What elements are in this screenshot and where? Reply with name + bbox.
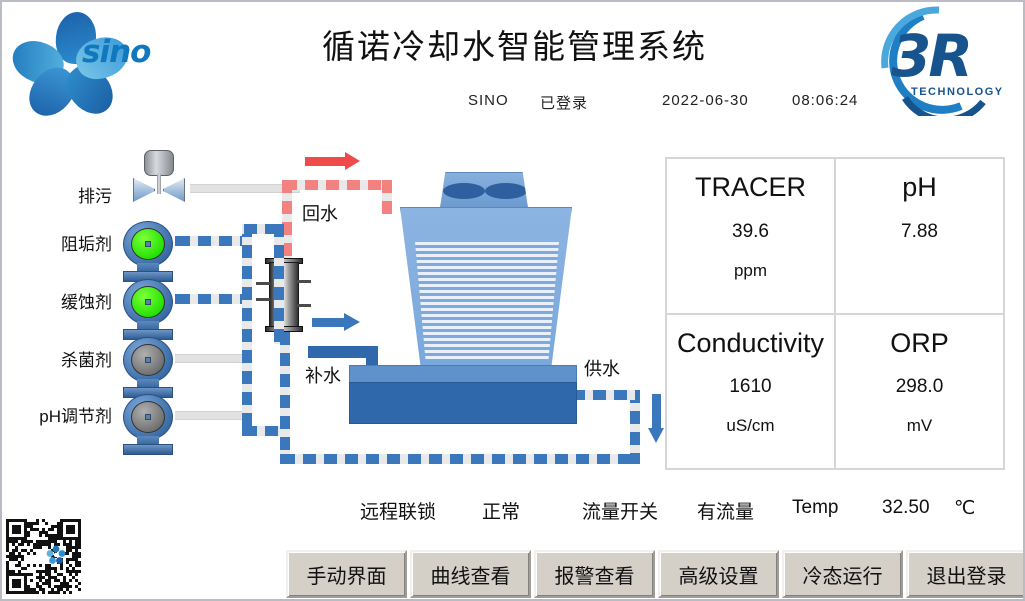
remote-interlock-label: 远程联锁 xyxy=(360,497,436,524)
readout-value: 298.0 xyxy=(896,376,944,398)
valve-actuator xyxy=(144,150,174,176)
pump-center-dot xyxy=(145,241,151,247)
vessel-nozzle-left-upper xyxy=(256,282,270,285)
blowdown-valve-icon[interactable] xyxy=(124,150,194,204)
pump-corrosion-inhibitor[interactable] xyxy=(121,279,175,341)
remote-interlock-value: 正常 xyxy=(482,497,520,524)
status-bar: 远程联锁 正常 流量开关 有流量 Temp 32.50 ℃ xyxy=(2,497,1025,527)
equipment-label-ph-adjuster: pH调节剂 xyxy=(16,402,112,427)
temp-value: 32.50 xyxy=(882,497,930,519)
cooling-tower-fan-housing xyxy=(440,172,528,208)
cold-start-run-button[interactable]: 冷态运行 xyxy=(782,550,903,598)
readout-name: Conductivity xyxy=(677,329,824,359)
advanced-settings-button[interactable]: 高级设置 xyxy=(658,550,779,598)
readout-name: TRACER xyxy=(695,173,806,203)
valve-wing-right xyxy=(163,178,185,202)
vessel-nozzle-left-lower xyxy=(256,298,270,301)
readout-unit: uS/cm xyxy=(726,416,774,436)
pump-biocide[interactable] xyxy=(121,337,175,399)
equipment-label-corrosion-inhibitor: 缓蚀剂 xyxy=(22,288,112,313)
alarm-view-button[interactable]: 报警查看 xyxy=(534,550,655,598)
dosing-line-corrosion-inhibitor xyxy=(175,294,247,304)
supply-flow-arrow-head xyxy=(648,428,664,443)
current-user: SINO xyxy=(468,92,509,109)
makeup-water-label: 补水 xyxy=(305,362,341,388)
supply-flow-arrow-shaft xyxy=(652,394,661,430)
pump-center-dot xyxy=(145,414,151,420)
dosing-line-scale-inhibitor xyxy=(175,236,247,246)
logout-button[interactable]: 退出登录 xyxy=(906,550,1025,598)
pump-scale-inhibitor[interactable] xyxy=(121,221,175,283)
side-stream-filter-icon[interactable] xyxy=(264,254,304,336)
system-time: 08:06:24 xyxy=(792,92,858,109)
pump-center-dot xyxy=(145,357,151,363)
pump-base xyxy=(123,444,173,455)
dosing-line-ph-adjuster xyxy=(175,411,247,420)
flow-switch-label: 流量开关 xyxy=(582,497,658,524)
cooling-tower-basin xyxy=(349,382,577,424)
return-flow-arrow-head xyxy=(345,152,360,170)
cooling-tower-fill xyxy=(412,242,562,360)
curve-view-button[interactable]: 曲线查看 xyxy=(410,550,531,598)
command-button-bar: 手动界面 曲线查看 报警查看 高级设置 冷态运行 退出登录 xyxy=(286,550,1025,598)
fan-blade-right xyxy=(485,183,527,199)
readout-value: 7.88 xyxy=(901,221,938,243)
circulation-pipe-left xyxy=(242,224,252,434)
return-water-label: 回水 xyxy=(302,200,338,226)
system-date: 2022-06-30 xyxy=(662,92,749,109)
temp-unit: ℃ xyxy=(954,497,975,520)
circulation-pipe-riser xyxy=(280,332,290,464)
readout-value: 1610 xyxy=(729,376,771,398)
hmi-screen: sino 3R TECHNOLOGY 循诺冷却水智能管理系统 SINO 已登录 … xyxy=(0,0,1025,601)
qr-center-logo-icon xyxy=(46,545,66,565)
pump-center-dot xyxy=(145,299,151,305)
return-water-pipe-top xyxy=(282,180,392,190)
temp-label: Temp xyxy=(792,497,838,519)
equipment-label-scale-inhibitor: 阻垢剂 xyxy=(22,230,112,255)
measurements-panel: TRACER 39.6 ppm pH 7.88 Conductivity 161… xyxy=(665,157,1005,470)
readout-name: ORP xyxy=(890,329,949,359)
valve-stem xyxy=(157,174,161,194)
readout-value: 39.6 xyxy=(732,221,769,243)
login-status: 已登录 xyxy=(540,92,588,113)
circulation-pipe-vessel-feed xyxy=(274,224,284,344)
readout-unit: ppm xyxy=(734,261,767,281)
makeup-flow-arrow-head xyxy=(344,313,360,331)
return-water-pipe-down xyxy=(382,180,392,214)
equipment-label-blowdown: 排污 xyxy=(32,182,112,207)
page-title: 循诺冷却水智能管理系统 xyxy=(2,20,1025,68)
header-meta: SINO 已登录 2022-06-30 08:06:24 xyxy=(2,92,1025,116)
supply-water-label: 供水 xyxy=(584,355,620,381)
makeup-flow-arrow-shaft xyxy=(312,318,346,327)
circulation-pipe-right xyxy=(630,390,640,464)
dosing-line-biocide xyxy=(175,354,247,363)
readout-name: pH xyxy=(902,173,937,203)
valve-wing-left xyxy=(133,178,155,202)
readout-tracer: TRACER 39.6 ppm xyxy=(666,158,835,314)
return-flow-arrow-shaft xyxy=(305,157,347,166)
manual-interface-button[interactable]: 手动界面 xyxy=(286,550,407,598)
qr-code xyxy=(6,519,104,595)
circulation-pipe-bottom xyxy=(280,454,640,464)
cooling-tower-lip xyxy=(349,365,577,383)
vessel-nozzle-right-lower xyxy=(297,304,311,307)
vessel-nozzle-right-upper xyxy=(297,280,311,283)
readout-conductivity: Conductivity 1610 uS/cm xyxy=(666,314,835,470)
readout-unit: mV xyxy=(907,416,933,436)
circulation-pipe-supply xyxy=(570,390,640,400)
flow-switch-value: 有流量 xyxy=(697,497,754,524)
equipment-label-biocide: 杀菌剂 xyxy=(22,346,112,371)
pump-ph-adjuster[interactable] xyxy=(121,394,175,456)
fan-blade-left xyxy=(443,183,485,199)
readout-orp: ORP 298.0 mV xyxy=(835,314,1004,470)
readout-ph: pH 7.88 xyxy=(835,158,1004,314)
